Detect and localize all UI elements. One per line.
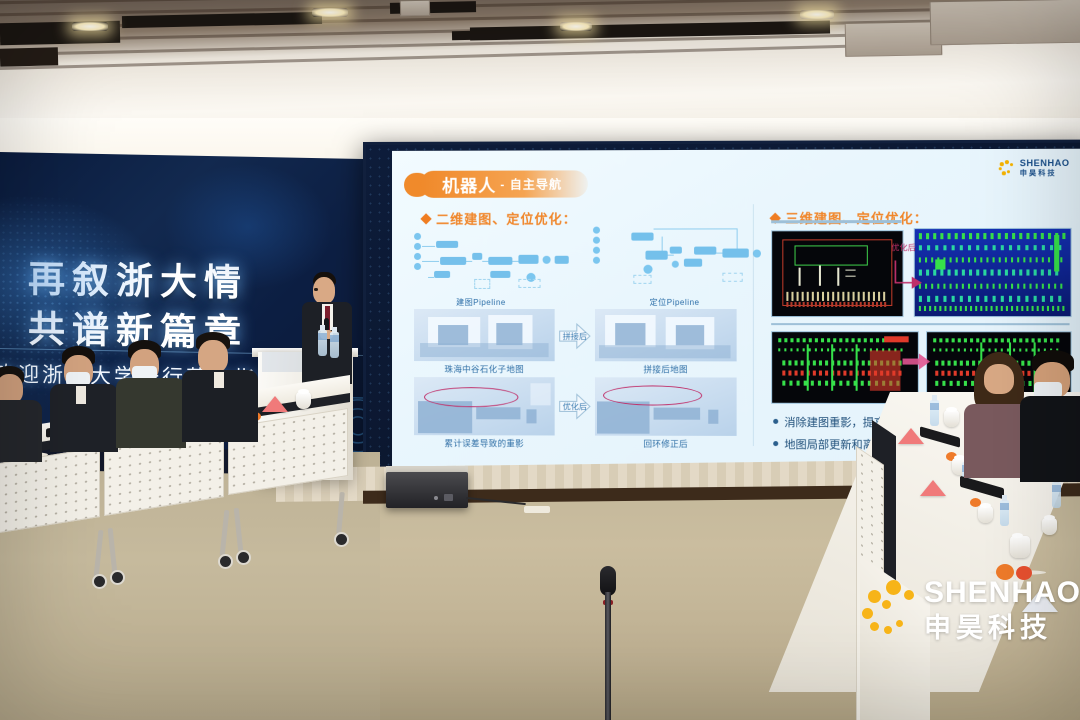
arrow-optimize-3d-label: 优化后 xyxy=(891,242,916,253)
tea-cup xyxy=(1042,518,1057,535)
watermark-en: SHENHAO xyxy=(924,578,1080,608)
attendee-person xyxy=(186,332,260,436)
tea-cup xyxy=(296,392,311,409)
pointcloud-after xyxy=(914,228,1072,317)
watermark-cn: 申昊科技 xyxy=(924,615,1080,642)
slide-logo-en: SHENHAO xyxy=(1020,159,1070,168)
tea-cup xyxy=(944,410,959,427)
name-card xyxy=(920,480,946,496)
section-heading-3d: 三维建图、定位优化： xyxy=(771,208,928,227)
column-divider xyxy=(753,204,754,446)
arrow-optimize-3d xyxy=(893,256,924,288)
attendee-person xyxy=(0,366,56,456)
caption-subsite: 珠海中谷石化子地图 xyxy=(414,363,555,375)
ceiling-downlight xyxy=(312,8,348,17)
flow-label-localization: 定位Pipeline xyxy=(650,297,700,308)
shenhao-watermark-mark-icon xyxy=(862,580,914,640)
table-caster xyxy=(334,532,349,547)
av-equipment-box xyxy=(386,472,468,508)
flow-label-mapping: 建图Pipeline xyxy=(456,297,506,308)
attendee-person xyxy=(118,340,188,440)
pointcloud-before-topbar xyxy=(771,220,901,223)
attendee-person xyxy=(52,346,122,446)
ceiling-downlight xyxy=(72,22,108,31)
section-2d-label: 二维建图、定位优化： xyxy=(436,209,577,228)
map-image-merged xyxy=(595,309,737,361)
table-caster xyxy=(218,554,233,569)
name-card xyxy=(262,396,288,412)
table-caster xyxy=(236,550,251,565)
water-bottle xyxy=(1052,482,1061,508)
tea-cup xyxy=(1010,536,1030,558)
table-caster xyxy=(92,574,107,589)
foreground-microphone xyxy=(600,566,616,718)
water-bottle xyxy=(930,400,939,426)
arrow-optimize-2d-label: 优化后 xyxy=(563,401,587,412)
tea-cup xyxy=(978,506,993,523)
pointcloud-lower-topbar xyxy=(771,323,1069,325)
section-3d-label: 三维建图、定位优化： xyxy=(785,208,928,227)
slide-logo: SHENHAO 申昊科技 xyxy=(999,159,1069,177)
map-image-subsite xyxy=(414,309,555,361)
caption-merged: 拼接后地图 xyxy=(595,363,737,375)
arrow-lower-optimize xyxy=(903,349,932,373)
ceiling-downlight xyxy=(560,22,592,31)
bullet-dot-icon xyxy=(773,419,778,424)
arrow-optimize-2d: 优化后 xyxy=(559,393,591,419)
slide-logo-cn: 申昊科技 xyxy=(1020,170,1070,177)
map-image-ghosting xyxy=(414,377,555,435)
caption-ghosting: 累计误差导致的重影 xyxy=(414,437,555,449)
arrow-merge: 拼接后 xyxy=(559,323,591,349)
shenhao-mark-icon xyxy=(999,160,1015,176)
caption-loopclosed: 回环修正后 xyxy=(595,438,737,450)
pointcloud-before xyxy=(771,230,903,317)
ceiling-downlight xyxy=(800,10,834,19)
bullet-dot-icon xyxy=(773,441,778,446)
slide-title: 机器人 - 自主导航 xyxy=(420,170,588,197)
ceiling xyxy=(0,0,1080,126)
diamond-bullet-icon xyxy=(420,213,431,224)
av-floor-plug xyxy=(524,506,550,513)
water-bottle xyxy=(330,332,339,358)
water-bottle xyxy=(318,330,327,356)
water-bottle xyxy=(1000,500,1009,526)
arrow-merge-label: 拼接后 xyxy=(563,331,587,342)
conference-room-scene: 再叙浙大情 共谱新篇章 欢迎浙江大学一行莅临指导 xyxy=(0,0,1080,720)
slide-title-main: 机器人 xyxy=(442,172,496,197)
section-heading-2d: 二维建图、定位优化： xyxy=(422,209,577,228)
flowchart-mapping-pipeline xyxy=(414,231,575,293)
attendee-person xyxy=(1020,350,1080,480)
watermark-logo: SHENHAO 申昊科技 xyxy=(862,578,1080,642)
backdrop-headline-1: 再叙浙大情 xyxy=(28,249,248,307)
table-caster xyxy=(110,570,125,585)
flowchart-localization-pipeline xyxy=(593,224,770,293)
slide-title-sub: - 自主导航 xyxy=(500,175,562,192)
map-image-loopclosed xyxy=(595,377,737,436)
